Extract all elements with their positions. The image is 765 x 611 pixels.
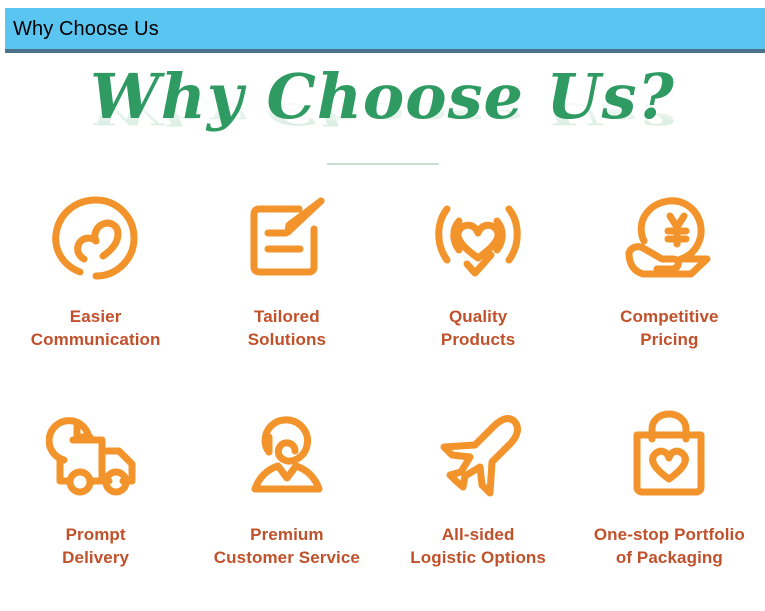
feature-card-quality-products[interactable]: Quality Products (383, 175, 574, 393)
feature-card-prompt-delivery[interactable]: Prompt Delivery (0, 393, 191, 611)
feature-card-premium-customer-service[interactable]: Premium Customer Service (191, 393, 382, 611)
feature-grid: Easier Communication Tailored Solutions (0, 175, 765, 611)
headset-agent-icon (237, 405, 337, 509)
hero-title: Why Choose Us? (0, 59, 765, 135)
shopping-bag-heart-icon (619, 405, 719, 509)
feature-label: Competitive Pricing (620, 305, 718, 351)
feature-label: Easier Communication (31, 305, 161, 351)
airplane-icon (428, 405, 528, 509)
page-title: Why Choose Us (5, 19, 159, 39)
feature-label: Prompt Delivery (62, 523, 129, 569)
feature-card-tailored-solutions[interactable]: Tailored Solutions (191, 175, 382, 393)
app-header-bar: Why Choose Us (5, 8, 765, 53)
document-pencil-icon (237, 187, 337, 291)
feature-label: Tailored Solutions (248, 305, 326, 351)
feature-card-easier-communication[interactable]: Easier Communication (0, 175, 191, 393)
feature-card-all-sided-logistic-options[interactable]: All-sided Logistic Options (383, 393, 574, 611)
hand-yen-coin-icon (619, 187, 719, 291)
hero-section: Why Choose Us? Why Choose Us? (0, 57, 765, 169)
ear-in-circle-icon (46, 187, 146, 291)
feature-label: Premium Customer Service (214, 523, 360, 569)
feature-label: All-sided Logistic Options (410, 523, 546, 569)
delivery-truck-clock-icon (46, 405, 146, 509)
feature-label: Quality Products (441, 305, 515, 351)
feature-card-one-stop-portfolio-of-packaging[interactable]: One-stop Portfolio of Packaging (574, 393, 765, 611)
content-area: Why Choose Us? Why Choose Us? Easier Com… (0, 57, 765, 599)
feature-card-competitive-pricing[interactable]: Competitive Pricing (574, 175, 765, 393)
heart-signal-check-icon (428, 187, 528, 291)
feature-label: One-stop Portfolio of Packaging (594, 523, 745, 569)
hero-divider (327, 163, 439, 165)
